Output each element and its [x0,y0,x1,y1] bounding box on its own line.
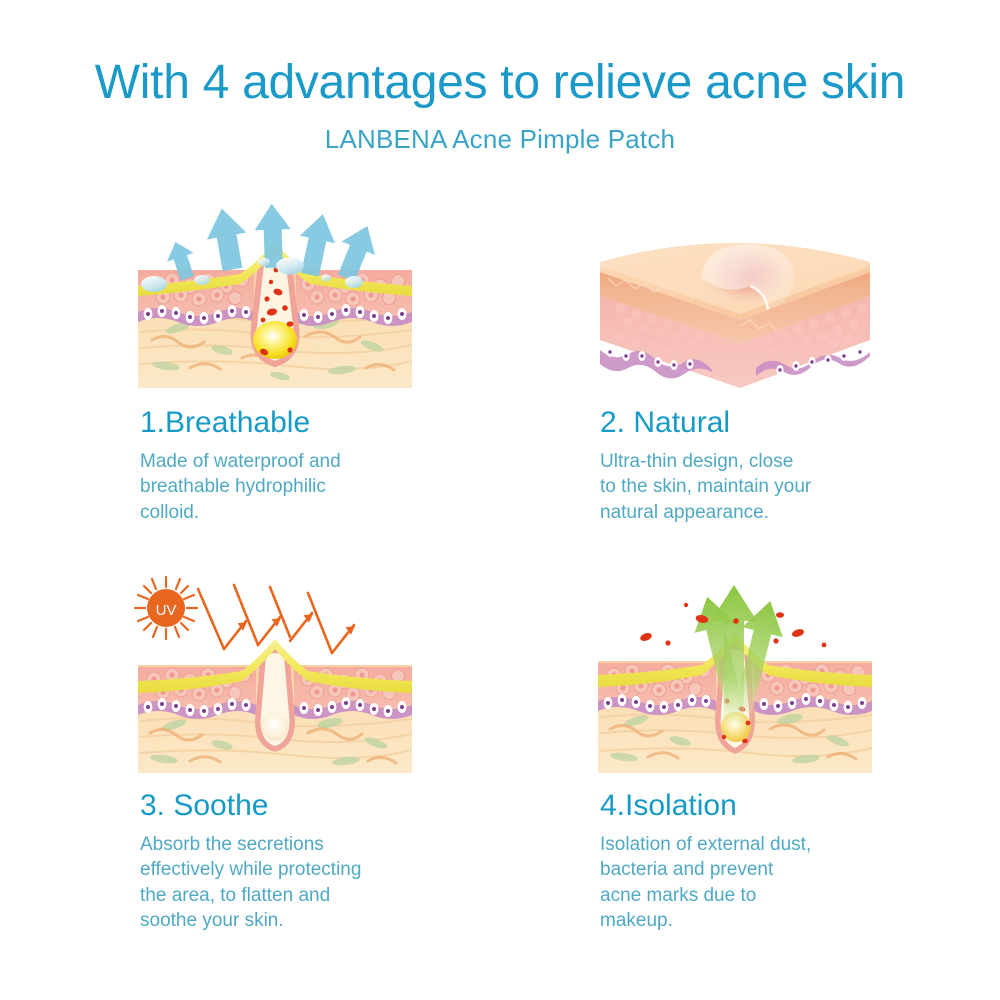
skin-cross-section-uv-shield-illustration: UV [130,575,420,775]
skin-block-ultrathin-patch-illustration [590,200,880,392]
up-arrow-icon [202,205,252,273]
skin-cross-section-breathable-illustration [130,200,420,392]
water-droplet-icon [141,276,167,292]
advantage-body-3: Absorb the secretions effectively while … [140,832,490,933]
water-droplet-icon [345,276,363,288]
water-droplet-icon [194,275,210,285]
advantage-card-isolation: 4.Isolation Isolation of external dust, … [540,575,1000,950]
sebum-core [261,713,289,741]
uv-sun-icon: UV [135,577,197,639]
advantage-body-4: Isolation of external dust, bacteria and… [600,832,950,933]
infographic-page: With 4 advantages to relieve acne skin L… [0,0,1000,1000]
advantages-grid: 1.Breathable Made of waterproof and brea… [0,200,1000,950]
advantage-card-soothe: UV [80,575,540,950]
skin-cross-section-isolation-illustration [590,575,880,775]
soothed-pore [258,653,292,749]
advantage-body-1: Made of waterproof and breathable hydrop… [140,449,490,525]
advantage-card-breathable: 1.Breathable Made of waterproof and brea… [80,200,540,575]
page-subtitle: LANBENA Acne Pimple Patch [0,125,1000,154]
advantage-heading-3: 3. Soothe [140,789,540,822]
advantage-heading-2: 2. Natural [600,406,1000,439]
advantage-heading-1: 1.Breathable [140,406,540,439]
uv-label: UV [156,602,177,619]
page-header: With 4 advantages to relieve acne skin L… [0,58,1000,153]
advantage-heading-4: 4.Isolation [600,789,1000,822]
water-droplet-icon [258,258,270,266]
advantage-card-natural: 2. Natural Ultra-thin design, close to t… [540,200,1000,575]
uv-rays [198,585,332,653]
page-title: With 4 advantages to relieve acne skin [0,58,1000,109]
water-droplet-icon [276,258,304,275]
advantage-body-2: Ultra-thin design, close to the skin, ma… [600,449,950,525]
sebum-core [253,321,297,359]
water-droplet-icon [321,275,331,282]
